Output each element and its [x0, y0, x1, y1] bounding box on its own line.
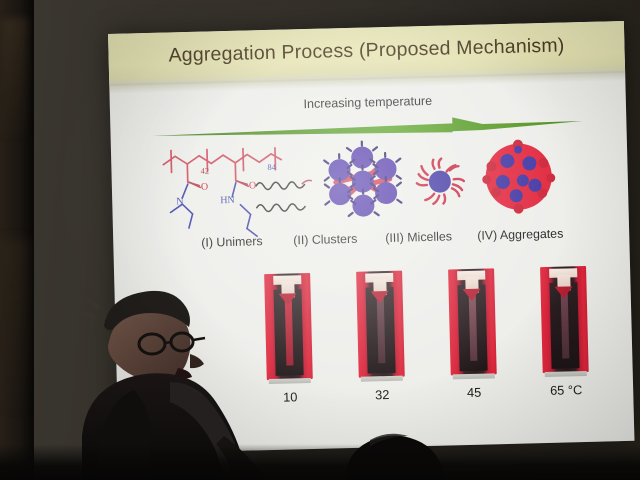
- projected-slide: Aggregation Process (Proposed Mechanism)…: [108, 21, 634, 454]
- aggregate-sphere-icon: [477, 135, 561, 219]
- wall-glow-lower: [0, 240, 30, 410]
- stage-label-micelles: (III) Micelles: [385, 229, 452, 245]
- cuvette-temp-10: 10: [267, 389, 313, 405]
- single-micelle-icon: [411, 153, 468, 210]
- stage-label-unimers: (I) Unimers: [201, 234, 263, 250]
- cuvette-base: [453, 373, 495, 379]
- cuvette-meniscus: [371, 291, 389, 303]
- stage-label-aggregates: (IV) Aggregates: [477, 227, 563, 243]
- svg-text:O: O: [201, 182, 209, 193]
- cuvette-65C: [540, 266, 589, 373]
- cuvette-meniscus: [555, 286, 573, 298]
- svg-text:N: N: [176, 196, 184, 207]
- cuvette-temp-45: 45: [451, 384, 497, 400]
- cuvette-10C: [264, 273, 313, 380]
- cuvette-base: [269, 378, 311, 384]
- cuvette-photo-row: 10 32 45: [264, 265, 618, 424]
- cuvette-meniscus: [463, 289, 481, 301]
- cuvette-meniscus: [279, 293, 297, 305]
- cuvette-base: [361, 376, 403, 382]
- cluster-particles-icon: [319, 139, 407, 225]
- wall-glow-upper: [2, 18, 28, 138]
- cuvette-base: [545, 371, 587, 377]
- cuvette-45C: [448, 268, 497, 375]
- cuvette-32C: [356, 271, 405, 378]
- screenshot-root: Aggregation Process (Proposed Mechanism)…: [0, 0, 640, 480]
- svg-text:HN: HN: [220, 195, 235, 206]
- cuvette-temp-32: 32: [359, 387, 405, 403]
- stage-label-clusters: (II) Clusters: [293, 232, 357, 248]
- unimer-squiggle-icon: [253, 167, 324, 217]
- cuvette-temp-65: 65 °C: [537, 382, 595, 398]
- svg-text:42: 42: [200, 165, 209, 175]
